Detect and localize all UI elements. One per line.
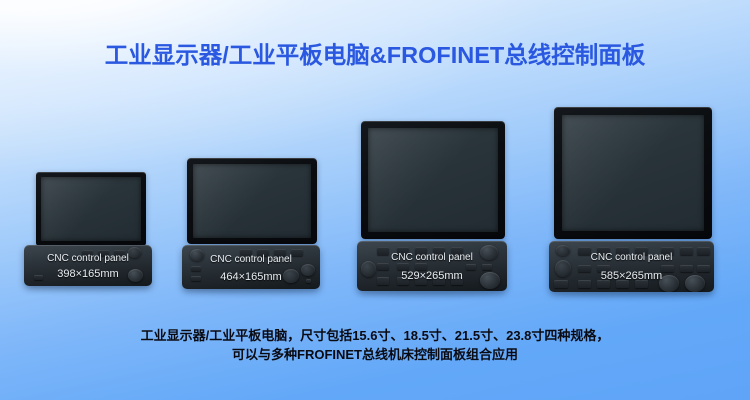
- monitor-screen: [562, 115, 704, 231]
- monitor-bezel: [36, 172, 146, 246]
- control-panel[interactable]: CNC control panel 464×165mm: [182, 245, 320, 289]
- monitor-screen: [193, 164, 311, 238]
- panel-button[interactable]: [415, 263, 427, 270]
- panel-button[interactable]: [397, 263, 409, 270]
- monitor-screen: [41, 177, 141, 241]
- caption-line-1: 工业显示器/工业平板电脑，尺寸包括15.6寸、18.5寸、21.5寸、23.8寸…: [0, 326, 750, 345]
- monitor-bezel: [554, 107, 712, 239]
- monitor-bezel: [187, 158, 317, 244]
- panel-button[interactable]: [377, 263, 389, 270]
- control-panel-label: CNC control panel: [24, 253, 152, 264]
- banner-caption: 工业显示器/工业平板电脑，尺寸包括15.6寸、18.5寸、21.5寸、23.8寸…: [0, 326, 750, 364]
- caption-line-2: 可以与多种FROFINET总线机床控制面板组合应用: [0, 345, 750, 364]
- product-dimension: 464×165mm: [182, 271, 320, 283]
- control-panel[interactable]: CNC control panel 529×265mm: [357, 241, 507, 291]
- product-dimension: 585×265mm: [549, 270, 714, 282]
- product-dimension: 529×265mm: [357, 270, 507, 282]
- control-panel[interactable]: CNC control panel 398×165mm: [24, 245, 152, 286]
- monitor-screen: [368, 128, 498, 232]
- page-title: 工业显示器/工业平板电脑&FROFINET总线控制面板: [0, 36, 750, 70]
- control-panel-label: CNC control panel: [182, 254, 320, 265]
- product-dimension: 398×165mm: [24, 268, 152, 280]
- monitor-bezel: [361, 121, 505, 239]
- control-panel[interactable]: CNC control panel 585×265mm: [549, 241, 714, 292]
- product-banner: 工业显示器/工业平板电脑&FROFINET总线控制面板 CNC control …: [0, 0, 750, 400]
- control-panel-label: CNC control panel: [357, 252, 507, 263]
- control-panel-label: CNC control panel: [549, 252, 714, 263]
